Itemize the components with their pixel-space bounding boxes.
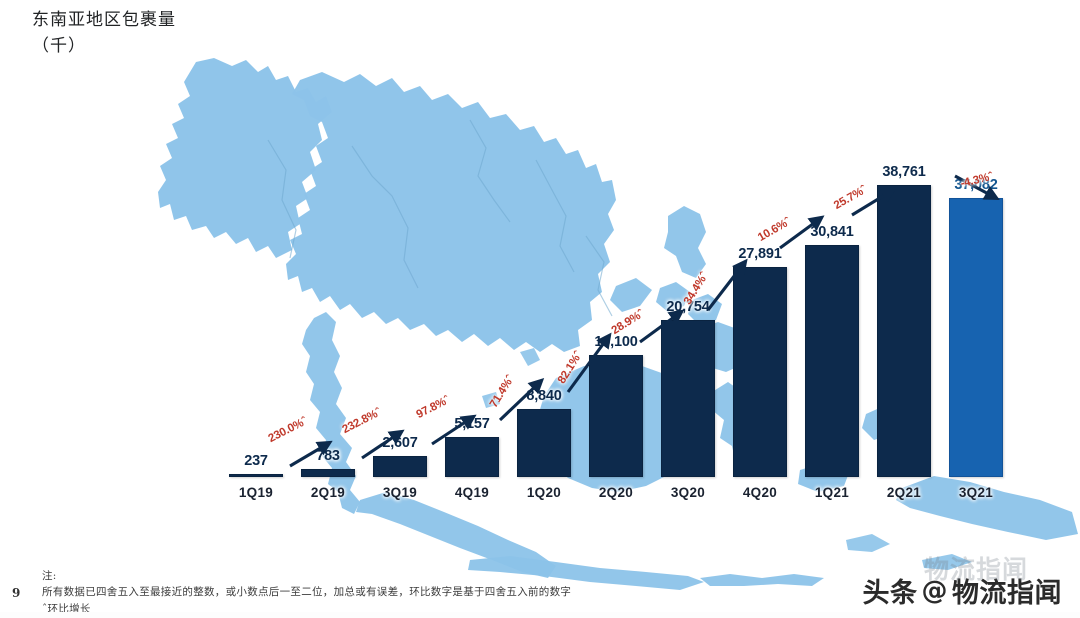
bar-4q19[interactable]: [445, 437, 499, 477]
bar-value-label: 5,157: [429, 416, 515, 432]
bar-3q20[interactable]: [661, 320, 715, 477]
bar-chart-plot: 237 1Q19 783 2Q19 2,607 3Q19 5,157 4Q19 …: [0, 0, 1080, 618]
bar-4q20[interactable]: [733, 267, 787, 477]
watermark-ghost: 物流指闻: [924, 550, 1028, 586]
bar-1q20[interactable]: [517, 409, 571, 477]
bar-2q20[interactable]: [589, 355, 643, 477]
bar-group-1q20[interactable]: 8,840 1Q20: [517, 409, 571, 477]
bar-group-4q20[interactable]: 27,891 4Q20: [733, 267, 787, 477]
bar-1q19[interactable]: [229, 474, 283, 477]
bar-category-label: 3Q21: [933, 485, 1019, 500]
bottom-strip: [0, 612, 1080, 618]
watermark: 物流指闻 头条 @ 物流指闻: [863, 571, 1063, 610]
watermark-prefix: 头条: [863, 571, 918, 610]
bar-group-4q19[interactable]: 5,157 4Q19: [445, 437, 499, 477]
bar-group-2q19[interactable]: 783 2Q19: [301, 469, 355, 477]
bar-2q21[interactable]: [877, 185, 931, 477]
bar-group-1q21[interactable]: 30,841 1Q21: [805, 245, 859, 477]
bar-value-label: 8,840: [501, 388, 587, 404]
bar-1q21[interactable]: [805, 245, 859, 477]
bar-group-2q21[interactable]: 38,761 2Q21: [877, 185, 931, 477]
bar-2q19[interactable]: [301, 469, 355, 477]
bar-group-3q20[interactable]: 20,754 3Q20: [661, 320, 715, 477]
bar-group-2q20[interactable]: 16,100 2Q20: [589, 355, 643, 477]
bar-3q21[interactable]: [949, 198, 1003, 477]
bar-group-1q19[interactable]: 237 1Q19: [229, 474, 283, 477]
page-number: 9: [12, 586, 20, 600]
bar-value-label: 27,891: [717, 246, 803, 262]
footnote-text: 注: 所有数据已四舍五入至最接近的整数，或小数点后一至二位，加总或有误差，环比数…: [42, 568, 571, 617]
bar-value-label: 2,607: [357, 435, 443, 451]
bar-group-3q21[interactable]: 37,082 3Q21: [949, 198, 1003, 477]
bar-3q19[interactable]: [373, 456, 427, 477]
bar-value-label: 30,841: [789, 224, 875, 240]
page-title: 东南亚地区包裹量 （千）: [32, 8, 176, 59]
bar-group-3q19[interactable]: 2,607 3Q19: [373, 456, 427, 477]
